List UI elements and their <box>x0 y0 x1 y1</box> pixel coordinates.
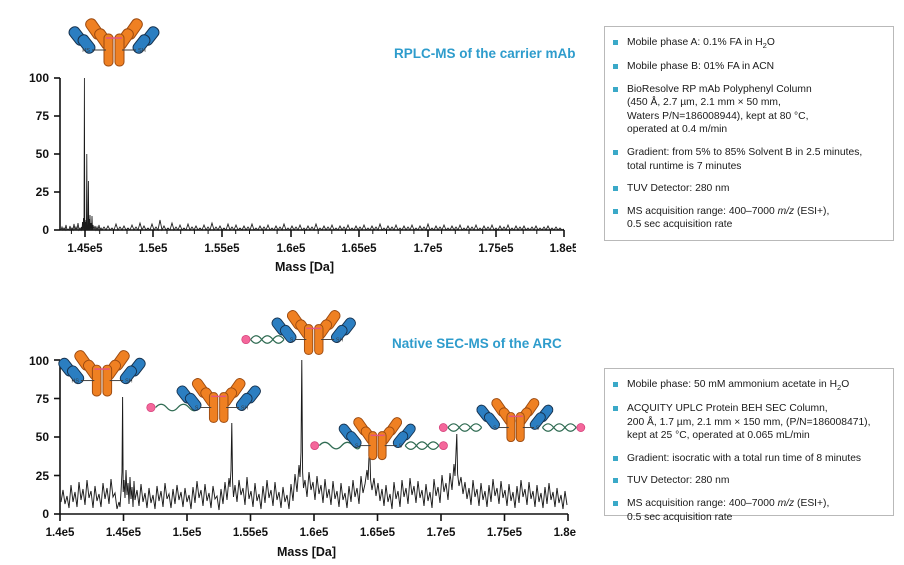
bullet-square-icon <box>613 186 618 191</box>
svg-text:1.75e5: 1.75e5 <box>478 243 514 255</box>
svg-text:50: 50 <box>36 430 50 444</box>
bullet-square-icon <box>613 40 618 45</box>
payload-dot-icon <box>147 403 155 411</box>
cartoon-label-right: SH <box>138 48 146 54</box>
svg-text:1.7e5: 1.7e5 <box>427 527 456 539</box>
svg-text:25: 25 <box>36 469 50 483</box>
helix-linker-icon <box>251 336 284 343</box>
top-spectrum-plot: 0 25 50 75 100 1.45e5 1.5e5 1.55e5 1.6e5 <box>16 70 576 255</box>
method-item-text: Gradient: from 5% to 85% Solvent B in 2.… <box>627 147 862 172</box>
method-item: BioResolve RP mAb Polyphenyl Column(450 … <box>613 83 883 137</box>
top-x-ticks: 1.45e5 1.5e5 1.55e5 1.6e5 1.65e5 1.7e5 1… <box>67 230 576 255</box>
method-item: TUV Detector: 280 nm <box>613 474 883 488</box>
cartoon-label-right: S <box>399 443 403 449</box>
svg-text:1.45e5: 1.45e5 <box>67 243 103 255</box>
bullet-square-icon <box>613 406 618 411</box>
cartoon-label-left: S <box>290 337 294 343</box>
svg-text:100: 100 <box>29 71 49 85</box>
top-method-list: Mobile phase A: 0.1% FA in H2O Mobile ph… <box>613 36 883 232</box>
method-item: Mobile phase B: 01% FA in ACN <box>613 60 883 74</box>
bullet-square-icon <box>613 501 618 506</box>
top-x-axis-label: Mass [Da] <box>275 260 334 274</box>
cartoon-label-right: SH <box>241 405 248 411</box>
cartoon-dual-helix-mab: S S <box>428 392 598 450</box>
method-item: Mobile phase A: 0.1% FA in H2O <box>613 36 883 51</box>
bullet-square-icon <box>613 382 618 387</box>
method-item: MS acquisition range: 400–7000 m/z (ESI+… <box>613 205 883 232</box>
bottom-x-ticks: 1.4e5 1.45e5 1.5e5 1.55e5 1.6e5 1.65e5 1… <box>46 514 576 539</box>
cartoon-carrier-mab: HS SH <box>62 8 166 70</box>
svg-text:100: 100 <box>29 354 49 368</box>
top-y-ticks: 0 25 50 75 100 <box>29 71 60 237</box>
method-item-text: MS acquisition range: 400–7000 m/z (ESI+… <box>627 498 829 523</box>
method-item: TUV Detector: 280 nm <box>613 182 883 196</box>
method-item: ACQUITY UPLC Protein BEH SEC Column,200 … <box>613 402 883 443</box>
cartoon-label-left: HS <box>82 48 90 54</box>
helix-linker-icon <box>542 424 576 431</box>
top-spectrum-trace <box>61 78 564 230</box>
top-method-infobox: Mobile phase A: 0.1% FA in H2O Mobile ph… <box>604 26 894 241</box>
bullet-square-icon <box>613 209 618 214</box>
bullet-square-icon <box>613 456 618 461</box>
bullet-square-icon <box>613 150 618 155</box>
svg-text:75: 75 <box>36 109 50 123</box>
svg-text:1.7e5: 1.7e5 <box>414 243 443 255</box>
method-item-text: Gradient: isocratic with a total run tim… <box>627 453 861 464</box>
payload-dot-icon <box>311 442 319 450</box>
svg-text:1.5e5: 1.5e5 <box>139 243 168 255</box>
svg-text:1.8e5: 1.8e5 <box>554 527 576 539</box>
svg-text:1.8e5: 1.8e5 <box>550 243 576 255</box>
svg-text:1.65e5: 1.65e5 <box>341 243 377 255</box>
method-item: Mobile phase: 50 mM ammonium acetate in … <box>613 378 883 393</box>
payload-dot-icon <box>242 335 250 343</box>
cartoon-label-left: S <box>355 443 359 449</box>
svg-text:1.55e5: 1.55e5 <box>233 527 269 539</box>
bullet-square-icon <box>613 64 618 69</box>
bottom-x-axis-label: Mass [Da] <box>277 545 336 559</box>
svg-text:0: 0 <box>42 507 49 521</box>
svg-text:1.5e5: 1.5e5 <box>173 527 202 539</box>
svg-text:1.4e5: 1.4e5 <box>46 527 75 539</box>
cartoon-label-left: HS <box>71 379 79 385</box>
method-item-text: BioResolve RP mAb Polyphenyl Column(450 … <box>627 84 812 136</box>
method-item-text: MS acquisition range: 400–7000 m/z (ESI+… <box>627 206 829 231</box>
svg-text:1.75e5: 1.75e5 <box>487 527 523 539</box>
payload-dot-icon <box>577 424 585 432</box>
cartoon-label-left: S <box>195 405 199 411</box>
cartoon-mono-linker-mab: S SH <box>137 372 267 430</box>
svg-text:50: 50 <box>36 147 50 161</box>
method-item-text: ACQUITY UPLC Protein BEH SEC Column,200 … <box>627 403 870 441</box>
bottom-chart-title: Native SEC-MS of the ARC <box>392 336 562 351</box>
top-spectrum-svg: 0 25 50 75 100 1.45e5 1.5e5 1.55e5 1.6e5 <box>16 70 576 255</box>
svg-text:1.55e5: 1.55e5 <box>204 243 240 255</box>
payload-dot-icon <box>439 424 447 432</box>
svg-text:1.6e5: 1.6e5 <box>277 243 306 255</box>
svg-text:1.65e5: 1.65e5 <box>360 527 396 539</box>
bottom-method-infobox: Mobile phase: 50 mM ammonium acetate in … <box>604 368 894 516</box>
svg-text:25: 25 <box>36 185 50 199</box>
method-item-text: Mobile phase: 50 mM ammonium acetate in … <box>627 379 849 390</box>
svg-text:75: 75 <box>36 392 50 406</box>
method-item: MS acquisition range: 400–7000 m/z (ESI+… <box>613 497 883 524</box>
method-item: Gradient: from 5% to 85% Solvent B in 2.… <box>613 146 883 173</box>
svg-text:0: 0 <box>42 223 49 237</box>
method-item: Gradient: isocratic with a total run tim… <box>613 452 883 466</box>
cartoon-mono-helix-mab: S SH <box>232 304 362 362</box>
cartoon-label-right: SH <box>336 337 343 343</box>
cartoon-label-left: S <box>493 425 497 431</box>
helix-linker-icon <box>448 424 482 431</box>
method-item-text: TUV Detector: 280 nm <box>627 475 729 486</box>
method-item-text: Mobile phase A: 0.1% FA in H2O <box>627 37 775 48</box>
cartoon-label-right: S <box>536 425 540 431</box>
bottom-method-list: Mobile phase: 50 mM ammonium acetate in … <box>613 378 883 524</box>
svg-text:1.6e5: 1.6e5 <box>300 527 329 539</box>
antibody-glyph: HS SH <box>67 17 161 66</box>
bullet-square-icon <box>613 87 618 92</box>
method-item-text: TUV Detector: 280 nm <box>627 183 729 194</box>
method-item-text: Mobile phase B: 01% FA in ACN <box>627 61 774 72</box>
bullet-square-icon <box>613 478 618 483</box>
cartoon-label-right: SH <box>125 379 133 385</box>
top-chart-title: RPLC-MS of the carrier mAb <box>394 46 576 61</box>
svg-text:1.45e5: 1.45e5 <box>106 527 142 539</box>
